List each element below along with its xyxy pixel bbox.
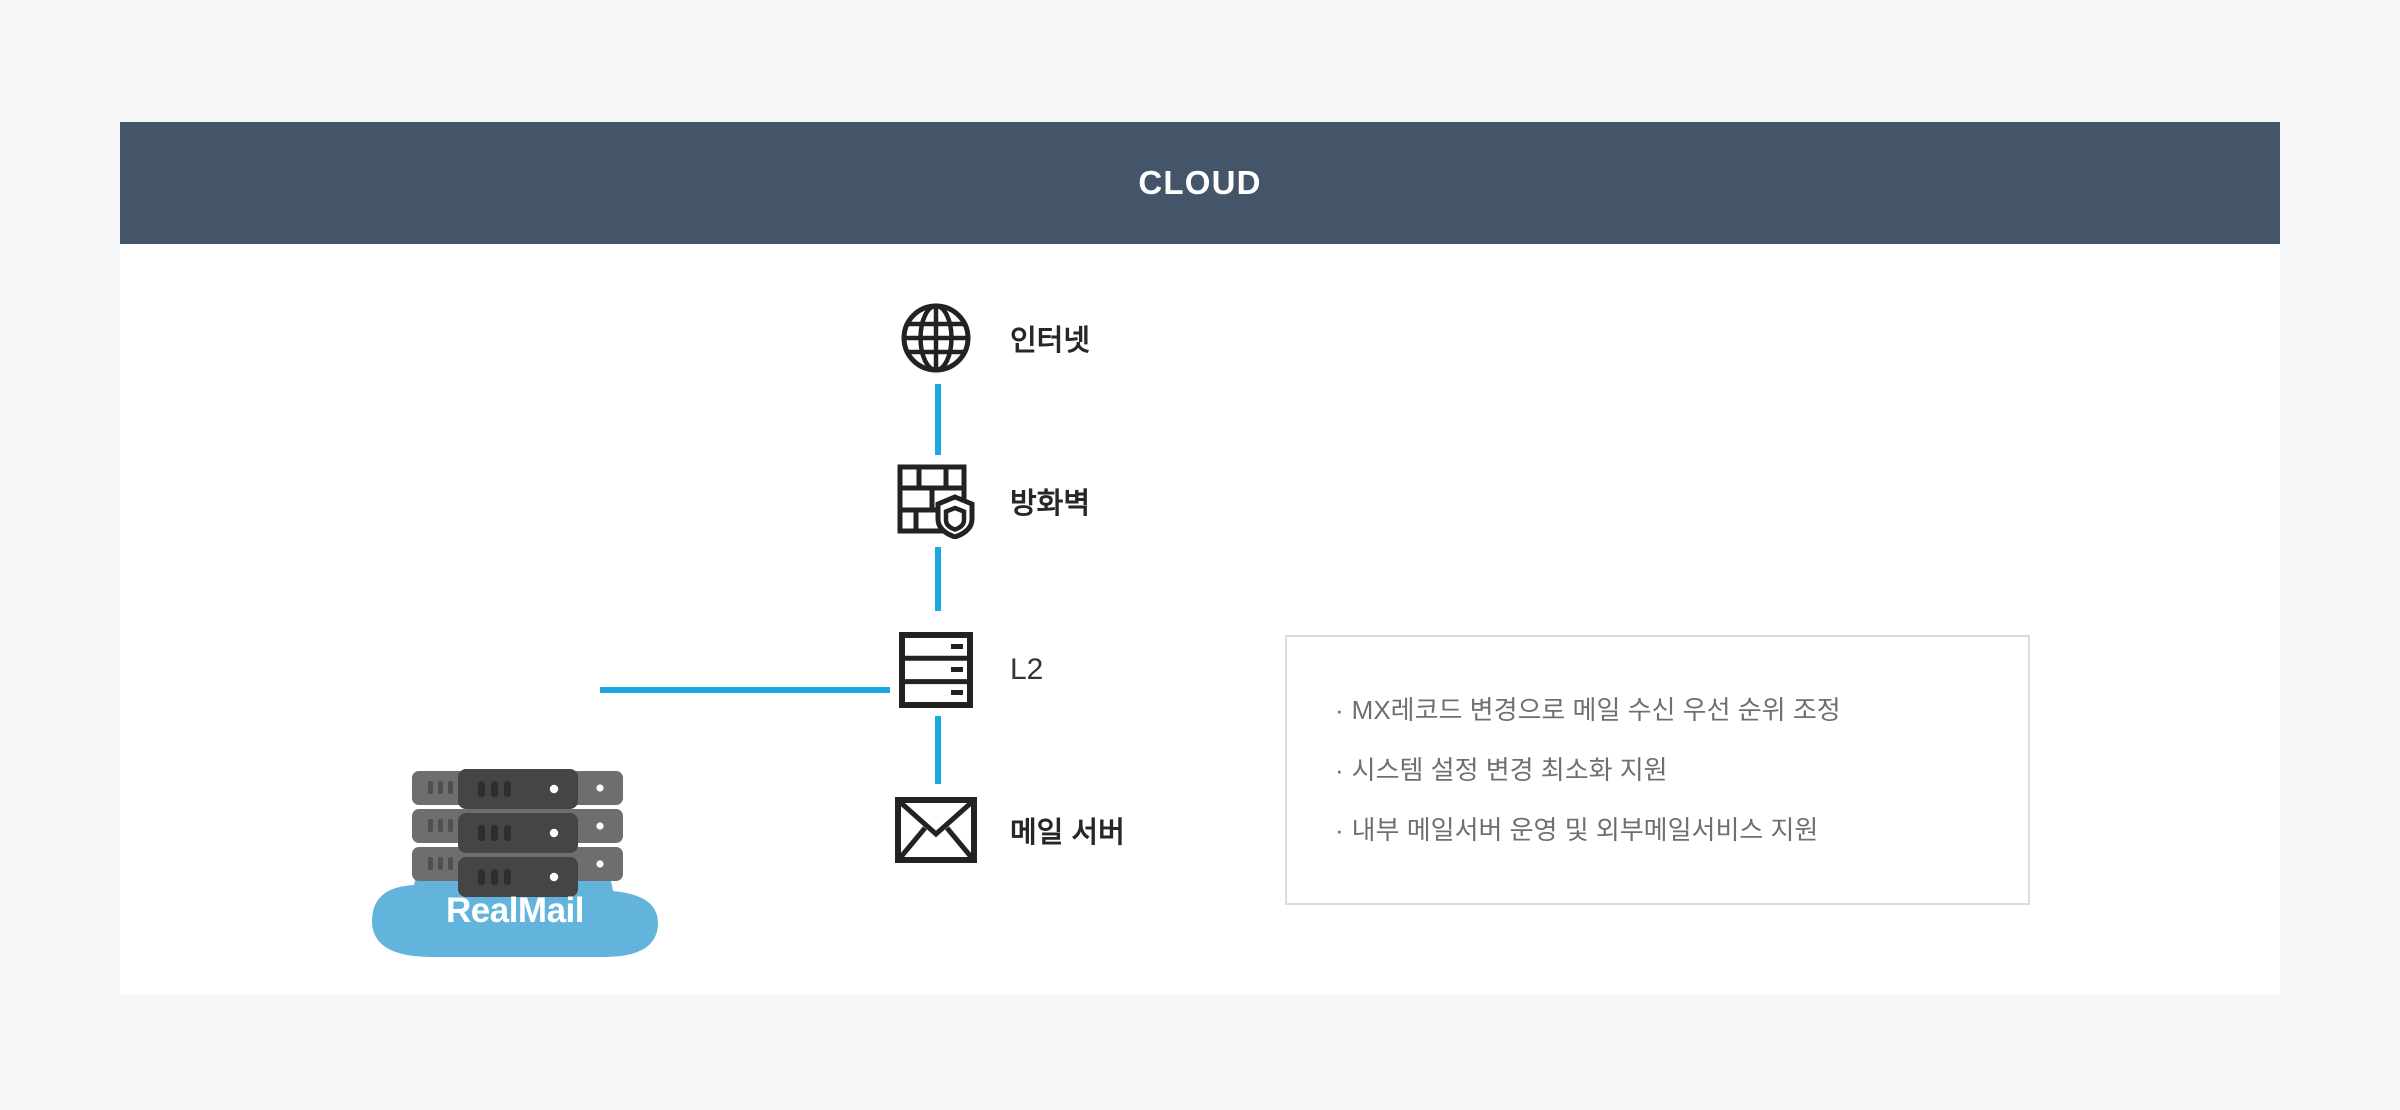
info-line-text: 내부 메일서버 운영 및 외부메일서비스 지원 bbox=[1352, 815, 1819, 845]
node-l2[interactable]: L2 bbox=[890, 624, 1043, 716]
envelope-icon bbox=[890, 784, 982, 876]
bullet-dot: · bbox=[1335, 815, 1344, 845]
card-header: CLOUD bbox=[120, 122, 2280, 244]
server-rack-stack-icon bbox=[410, 769, 625, 909]
node-firewall[interactable]: 방화벽 bbox=[890, 455, 1090, 547]
bullet-dot: · bbox=[1335, 755, 1344, 785]
node-label-mail-server: 메일 서버 bbox=[1010, 809, 1125, 851]
page-title: CLOUD bbox=[1138, 164, 1261, 202]
info-line: ·내부 메일서버 운영 및 외부메일서비스 지원 bbox=[1335, 800, 2028, 860]
info-line-text: MX레코드 변경으로 메일 수신 우선 순위 조정 bbox=[1352, 695, 1841, 725]
node-label-internet: 인터넷 bbox=[1010, 317, 1090, 359]
firewall-icon bbox=[890, 455, 982, 547]
node-label-firewall: 방화벽 bbox=[1010, 480, 1090, 522]
switch-rack-icon bbox=[890, 624, 982, 716]
card-body: 인터넷 bbox=[120, 244, 2280, 995]
connector-cloud-l2 bbox=[600, 687, 940, 693]
cloud-diagram-card: CLOUD 인터넷 bbox=[120, 122, 2280, 995]
info-box: ·MX레코드 변경으로 메일 수신 우선 순위 조정 ·시스템 설정 변경 최소… bbox=[1285, 635, 2030, 905]
info-line: ·시스템 설정 변경 최소화 지원 bbox=[1335, 740, 2028, 800]
bullet-dot: · bbox=[1335, 695, 1344, 725]
realmail-label: RealMail bbox=[370, 891, 660, 931]
node-internet[interactable]: 인터넷 bbox=[890, 292, 1090, 384]
node-label-l2: L2 bbox=[1010, 653, 1043, 687]
info-line: ·MX레코드 변경으로 메일 수신 우선 순위 조정 bbox=[1335, 680, 2028, 740]
globe-icon bbox=[890, 292, 982, 384]
info-line-text: 시스템 설정 변경 최소화 지원 bbox=[1352, 755, 1668, 785]
realmail-cloud-node[interactable]: RealMail bbox=[370, 769, 670, 959]
node-mail-server[interactable]: 메일 서버 bbox=[890, 784, 1125, 876]
